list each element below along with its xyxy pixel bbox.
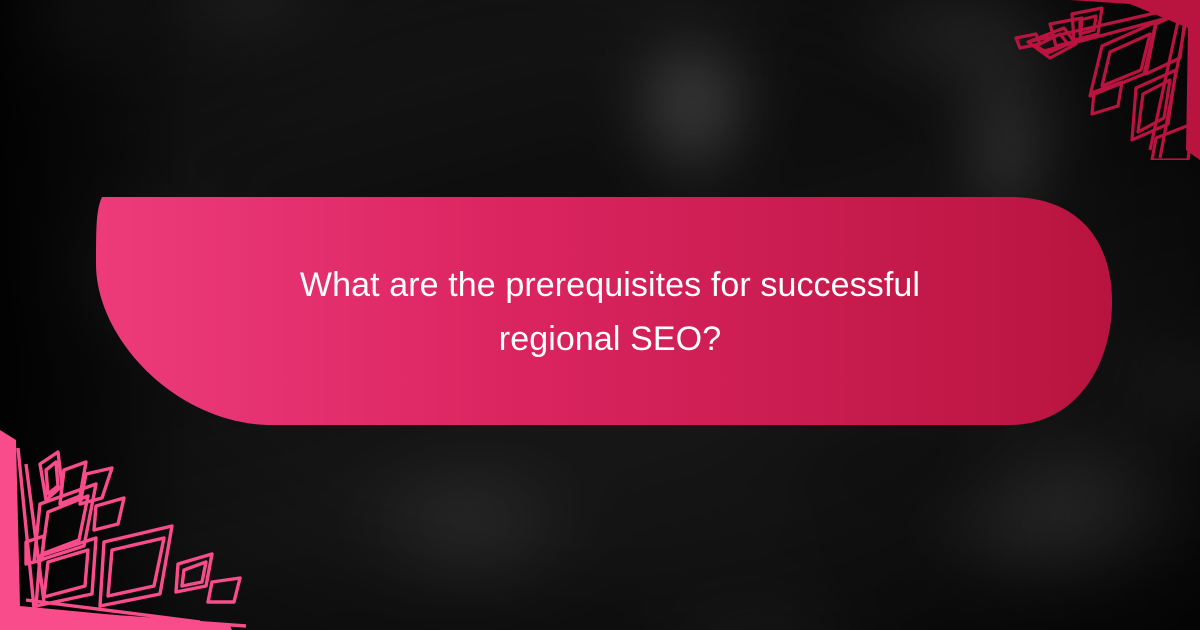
heading-line-1: What are the prerequisites for successfu… (300, 259, 920, 313)
heading-line-2: regional SEO? (499, 313, 721, 367)
title-banner: What are the prerequisites for successfu… (90, 190, 1120, 435)
share-card-canvas: What are the prerequisites for successfu… (0, 0, 1200, 630)
banner-heading: What are the prerequisites for successfu… (240, 190, 980, 435)
